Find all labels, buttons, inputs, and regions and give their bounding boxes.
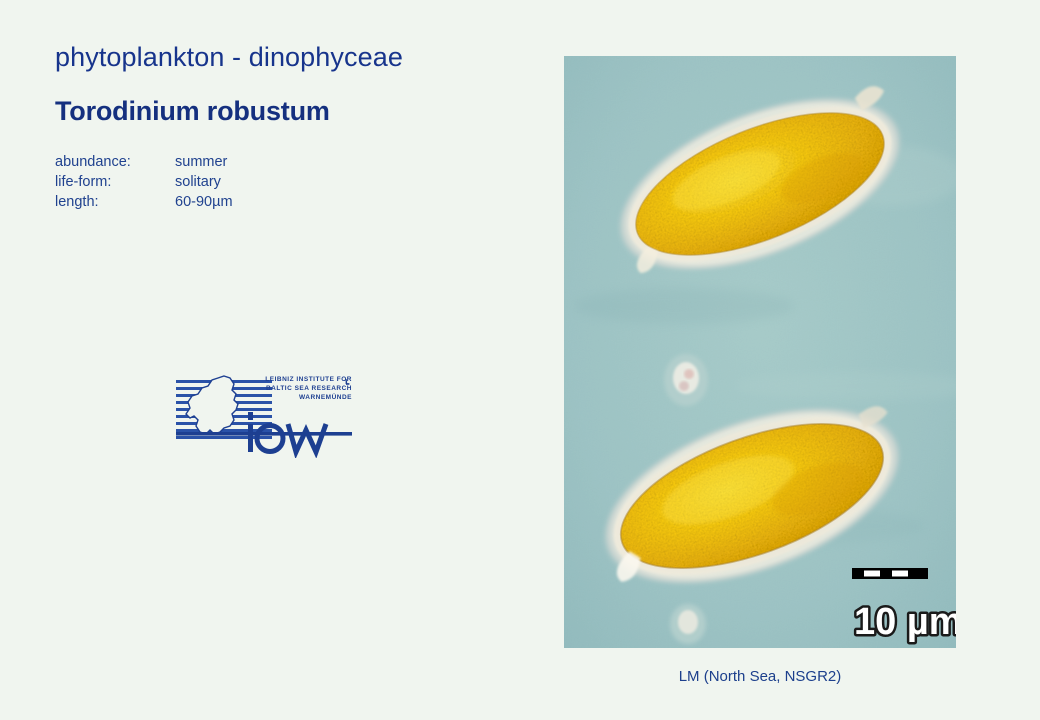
- info-panel: phytoplankton - dinophyceae Torodinium r…: [0, 0, 560, 720]
- scale-bar-tick: [892, 571, 908, 577]
- attribute-value-length: 60-90µm: [175, 192, 233, 212]
- attribute-label-length: length:: [55, 192, 175, 212]
- micrograph-image: 10 µm 10 µm: [564, 56, 956, 648]
- attribute-value-life-form: solitary: [175, 172, 221, 192]
- species-name: Torodinium robustum: [55, 96, 330, 127]
- scale-bar-track: [852, 568, 928, 579]
- group-heading: phytoplankton - dinophyceae: [55, 42, 403, 73]
- attribute-value-abundance: summer: [175, 152, 227, 172]
- attribute-row-length: length:60-90µm: [55, 192, 233, 212]
- scale-bar-label-group: 10 µm 10 µm: [854, 601, 956, 643]
- scale-bar-label: 10 µm: [854, 601, 956, 643]
- attributes-list: abundance:summer life-form:solitary leng…: [55, 152, 233, 212]
- debris-particle-upper: [664, 354, 708, 406]
- baltic-sea-map-icon: [186, 376, 238, 434]
- iow-logo: L x L Leibniz Institute for: [176, 374, 352, 458]
- scale-bar-tick: [864, 571, 880, 577]
- debris-particle-lower: [670, 604, 706, 644]
- attribute-row-life-form: life-form:solitary: [55, 172, 233, 192]
- attribute-label-life-form: life-form:: [55, 172, 175, 192]
- figure-caption: LM (North Sea, NSGR2): [564, 668, 956, 685]
- logo-institute-line-1: Leibniz Institute for: [242, 375, 352, 384]
- attribute-row-abundance: abundance:summer: [55, 152, 233, 172]
- scale-bar: [852, 568, 928, 579]
- logo-institute-line-2: Baltic Sea Research: [242, 384, 352, 393]
- logo-institute-line-3: Warnemünde: [242, 393, 352, 402]
- attribute-label-abundance: abundance:: [55, 152, 175, 172]
